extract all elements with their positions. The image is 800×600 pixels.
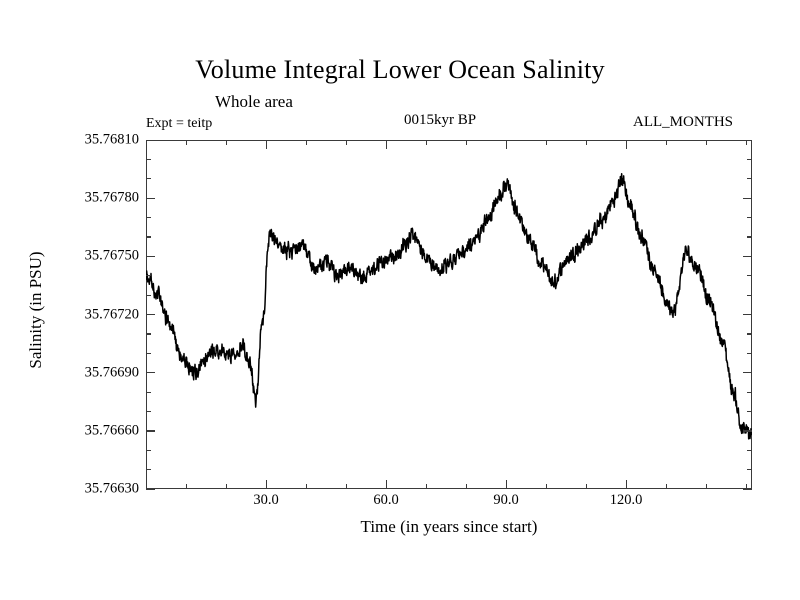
x-tick-mark <box>666 484 667 489</box>
y-tick-mark <box>747 392 752 393</box>
y-tick-mark <box>146 333 151 334</box>
y-tick-label: 35.76690 <box>47 364 139 381</box>
y-tick-mark <box>146 217 151 218</box>
x-tick-mark <box>426 140 427 145</box>
x-tick-mark <box>746 140 747 145</box>
y-tick-label: 35.76720 <box>47 306 139 323</box>
y-tick-mark <box>146 198 155 199</box>
y-tick-mark <box>747 159 752 160</box>
y-tick-mark <box>747 411 752 412</box>
y-tick-mark <box>747 217 752 218</box>
y-tick-label: 35.76810 <box>47 132 139 149</box>
y-tick-mark <box>743 140 752 141</box>
x-tick-mark <box>346 484 347 489</box>
y-tick-mark <box>743 430 752 431</box>
x-tick-mark <box>386 480 387 489</box>
x-axis-tick-labels: 30.060.090.0120.0 <box>146 492 752 514</box>
y-tick-mark <box>146 489 155 490</box>
x-axis-label: Time (in years since start) <box>146 517 752 537</box>
experiment-label: Expt = teitp <box>146 116 212 132</box>
y-axis-label: Salinity (in PSU) <box>26 190 46 430</box>
y-tick-mark <box>743 489 752 490</box>
x-tick-mark <box>146 140 147 145</box>
plot-area <box>146 140 752 489</box>
x-tick-mark <box>546 140 547 145</box>
x-tick-mark <box>146 484 147 489</box>
y-axis-tick-labels: 35.7663035.7666035.7669035.7672035.76750… <box>43 140 139 489</box>
months-label: ALL_MONTHS <box>633 114 733 131</box>
x-tick-mark <box>226 140 227 145</box>
x-tick-mark <box>586 484 587 489</box>
period-label: 0015kyr BP <box>404 112 476 129</box>
y-tick-mark <box>743 198 752 199</box>
x-tick-label: 120.0 <box>596 492 656 509</box>
y-tick-mark <box>747 353 752 354</box>
x-tick-mark <box>506 140 507 149</box>
y-tick-mark <box>146 430 155 431</box>
x-tick-label: 30.0 <box>236 492 296 509</box>
y-tick-mark <box>146 140 155 141</box>
y-tick-mark <box>747 333 752 334</box>
y-tick-mark <box>146 236 151 237</box>
y-tick-mark <box>747 236 752 237</box>
x-tick-mark <box>266 480 267 489</box>
x-tick-mark <box>346 140 347 145</box>
y-tick-mark <box>146 372 155 373</box>
salinity-line <box>146 174 752 439</box>
y-tick-mark <box>146 295 151 296</box>
y-tick-mark <box>146 353 151 354</box>
chart-page: Volume Integral Lower Ocean Salinity Who… <box>0 0 800 600</box>
subtitle-area-label: Whole area <box>215 92 293 112</box>
y-tick-mark <box>146 314 155 315</box>
y-tick-mark <box>146 392 151 393</box>
y-tick-mark <box>743 372 752 373</box>
x-tick-mark <box>586 140 587 145</box>
x-tick-mark <box>706 140 707 145</box>
x-tick-mark <box>426 484 427 489</box>
y-tick-mark <box>146 275 151 276</box>
x-tick-mark <box>306 484 307 489</box>
page-title: Volume Integral Lower Ocean Salinity <box>0 55 800 85</box>
y-tick-mark <box>743 256 752 257</box>
y-tick-mark <box>146 159 151 160</box>
y-tick-mark <box>146 411 151 412</box>
x-tick-mark <box>626 140 627 149</box>
x-tick-mark <box>306 140 307 145</box>
x-tick-label: 90.0 <box>476 492 536 509</box>
x-tick-mark <box>466 140 467 145</box>
y-tick-mark <box>747 450 752 451</box>
y-tick-mark <box>146 469 151 470</box>
y-tick-label: 35.76660 <box>47 422 139 439</box>
x-tick-mark <box>706 484 707 489</box>
x-tick-mark <box>466 484 467 489</box>
x-tick-mark <box>506 480 507 489</box>
y-tick-mark <box>747 178 752 179</box>
y-tick-label: 35.76630 <box>47 481 139 498</box>
y-tick-mark <box>747 295 752 296</box>
y-tick-label: 35.76750 <box>47 248 139 265</box>
x-tick-mark <box>386 140 387 149</box>
x-tick-mark <box>226 484 227 489</box>
y-tick-mark <box>146 178 151 179</box>
x-tick-mark <box>266 140 267 149</box>
salinity-series <box>146 140 752 489</box>
y-tick-mark <box>743 314 752 315</box>
y-tick-mark <box>146 450 151 451</box>
y-tick-mark <box>747 275 752 276</box>
x-tick-mark <box>626 480 627 489</box>
x-tick-mark <box>546 484 547 489</box>
x-tick-mark <box>666 140 667 145</box>
x-tick-mark <box>746 484 747 489</box>
x-tick-mark <box>186 140 187 145</box>
x-tick-mark <box>186 484 187 489</box>
y-tick-mark <box>146 256 155 257</box>
x-tick-label: 60.0 <box>356 492 416 509</box>
y-tick-label: 35.76780 <box>47 190 139 207</box>
y-tick-mark <box>747 469 752 470</box>
